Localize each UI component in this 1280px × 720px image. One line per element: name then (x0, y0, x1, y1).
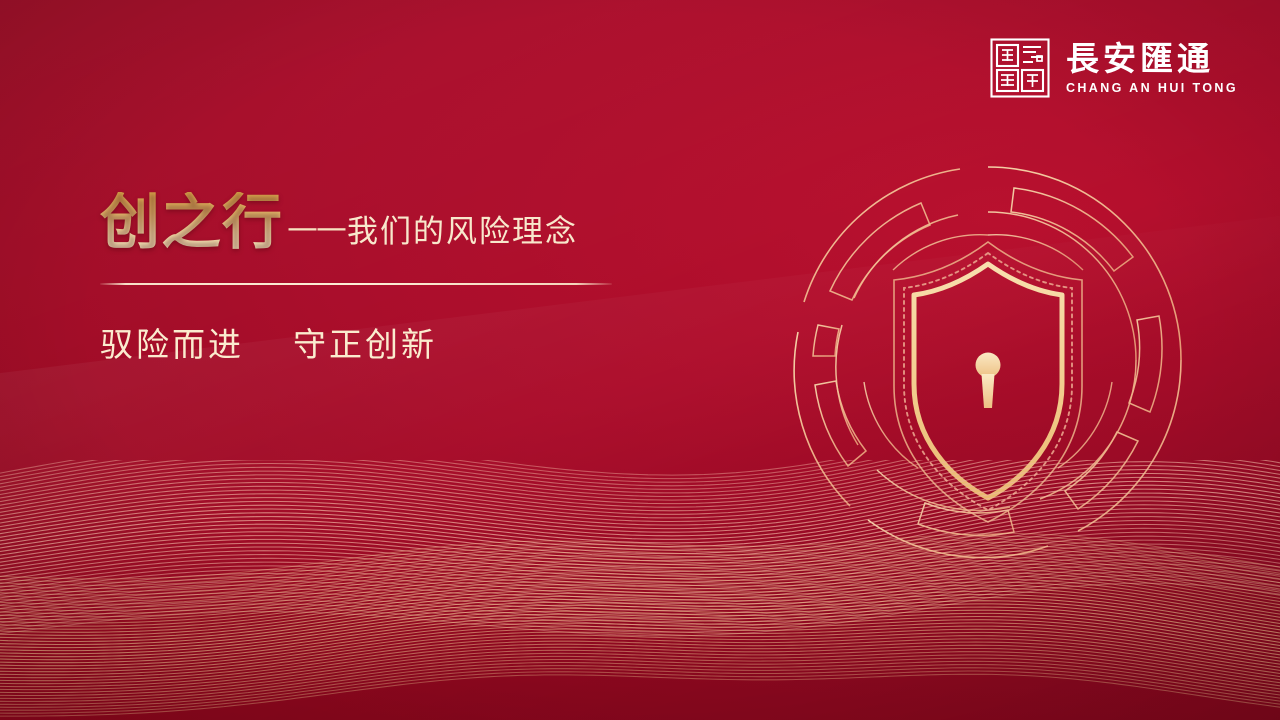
wave-line (0, 601, 1280, 648)
keyhole-icon (976, 353, 1001, 409)
title-dash: —— (287, 210, 345, 246)
logo-name-cn: 長安匯通 (1066, 41, 1238, 78)
logo-name-en: CHANG AN HUI TONG (1066, 82, 1238, 95)
wave-line (0, 460, 1280, 482)
brand-logo: 長安匯通 CHANG AN HUI TONG (989, 37, 1238, 99)
title-subtitle: 我们的风险理念 (347, 206, 578, 251)
logo-text-block: 長安匯通 CHANG AN HUI TONG (1066, 41, 1238, 94)
tagline: 驭险而进 守正创新 (100, 318, 720, 366)
page-title: 创之行 (100, 192, 283, 255)
headline-block: 创之行 —— 我们的风险理念 驭险而进 守正创新 (100, 192, 720, 366)
tagline-right: 守正创新 (293, 325, 437, 364)
chang-an-hui-tong-seal-icon (989, 37, 1051, 99)
title-divider (100, 283, 612, 285)
cover-slide: 创之行 —— 我们的风险理念 驭险而进 守正创新 (0, 0, 1280, 720)
flowing-line-waves (0, 460, 1280, 720)
wave-line (0, 460, 1280, 475)
tagline-left: 驭险而进 (100, 325, 244, 364)
waves-svg (0, 460, 1280, 720)
title-row: 创之行 —— 我们的风险理念 (100, 192, 720, 255)
